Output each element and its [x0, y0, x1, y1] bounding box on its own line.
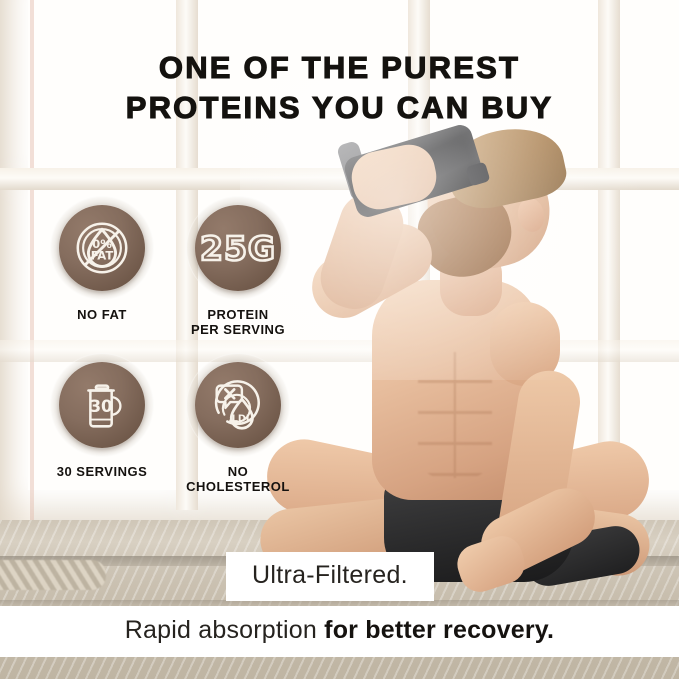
badge-caption: PROTEIN PER SERVING: [191, 308, 285, 337]
no-fat-droplet-icon: 0% FAT: [71, 217, 133, 279]
recovery-text-bold: for better recovery.: [324, 616, 554, 644]
ultra-filtered-banner: Ultra-Filtered.: [226, 552, 434, 601]
product-marketing-image: ONE OF THE PUREST PROTEINS YOU CAN BUY: [0, 0, 679, 679]
headline-line-2: PROTEINS YOU CAN BUY: [0, 88, 679, 128]
badge-caption-line-1: NO: [186, 465, 290, 480]
badge-caption: NO CHOLESTEROL: [186, 465, 290, 494]
badge-disc: LDL: [195, 362, 281, 448]
svg-text:LDL: LDL: [232, 414, 252, 425]
headline: ONE OF THE PUREST PROTEINS YOU CAN BUY: [0, 48, 679, 129]
badge-caption: 30 SERVINGS: [57, 465, 148, 480]
ultra-filtered-text: Ultra-Filtered.: [252, 561, 408, 590]
person-drinking-shake: [300, 120, 679, 590]
badge-disc: 0% FAT: [59, 205, 145, 291]
badge-row-1: 0% FAT NO FAT 25G PROTEIN PER: [34, 196, 306, 337]
badge-halo: 25G: [186, 196, 290, 300]
feature-badge-grid: 0% FAT NO FAT 25G PROTEIN PER: [34, 196, 306, 494]
badge-no-cholesterol: LDL NO CHOLESTEROL: [170, 353, 306, 494]
badge-no-fat: 0% FAT NO FAT: [34, 196, 170, 337]
svg-text:30: 30: [90, 397, 113, 416]
badge-caption-line-1: PROTEIN: [191, 308, 285, 323]
badge-disc: 25G: [195, 205, 281, 291]
abdominal-shading: [418, 352, 492, 478]
badge-protein-per-serving: 25G PROTEIN PER SERVING: [170, 196, 306, 337]
badge-caption-line-2: PER SERVING: [191, 323, 285, 338]
recovery-text: Rapid absorption for better recovery.: [0, 616, 679, 645]
no-cholesterol-ldl-icon: LDL: [207, 374, 269, 436]
badge-halo: 0% FAT: [50, 196, 154, 300]
recovery-text-regular: Rapid absorption: [125, 616, 324, 644]
recovery-banner: Rapid absorption for better recovery.: [0, 606, 679, 657]
badge-disc: 30: [59, 362, 145, 448]
badge-caption-line-1: NO FAT: [77, 308, 127, 323]
badge-row-2: 30 30 SERVINGS: [34, 353, 306, 494]
protein-grams-icon: 25G: [200, 229, 276, 268]
badge-halo: 30: [50, 353, 154, 457]
badge-halo: LDL: [186, 353, 290, 457]
badge-caption-line-2: CHOLESTEROL: [186, 480, 290, 495]
badge-caption-line-1: 30 SERVINGS: [57, 465, 148, 480]
badge-caption: NO FAT: [77, 308, 127, 323]
badge-30-servings: 30 30 SERVINGS: [34, 353, 170, 494]
svg-text:FAT: FAT: [91, 249, 114, 263]
rope-coil: [0, 560, 106, 590]
headline-line-1: ONE OF THE PUREST: [0, 48, 679, 88]
shaker-cup-icon: 30: [71, 374, 133, 436]
